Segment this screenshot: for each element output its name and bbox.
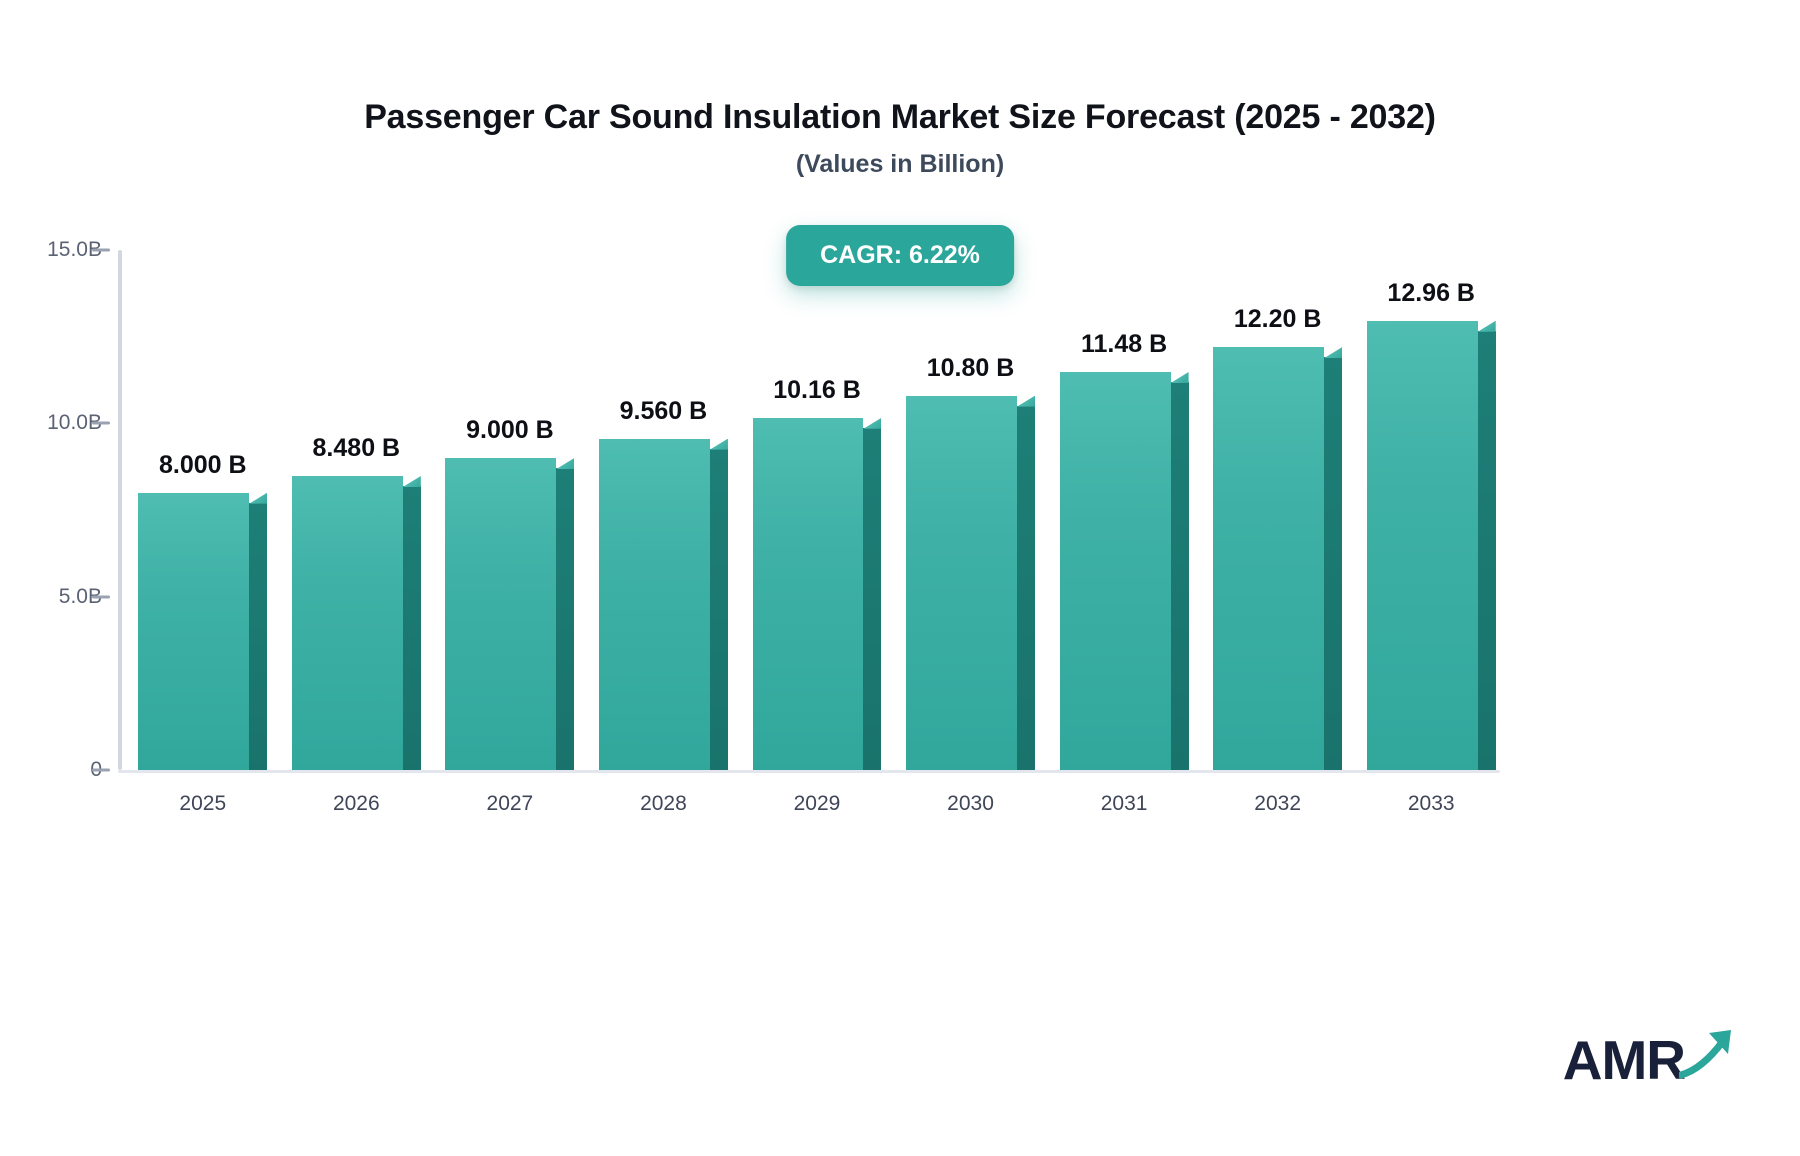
bar-side-face xyxy=(1017,406,1035,770)
bar-side-face xyxy=(556,468,574,770)
bar-group: 9.560 B2028 xyxy=(599,250,728,770)
bar-group: 8.480 B2026 xyxy=(292,250,421,770)
chart-container: Passenger Car Sound Insulation Market Si… xyxy=(0,0,1800,1156)
bar-value-label: 12.96 B xyxy=(1387,279,1475,308)
bar[interactable]: 11.48 B xyxy=(1060,372,1189,770)
bar-side-face xyxy=(249,503,267,770)
bar-front-face xyxy=(906,396,1017,770)
bar[interactable]: 9.000 B xyxy=(445,458,574,770)
bar-top-face xyxy=(556,458,574,469)
bar-side-face xyxy=(1324,357,1342,770)
bar-value-label: 9.560 B xyxy=(620,397,708,426)
bar[interactable]: 9.560 B xyxy=(599,439,728,770)
y-axis-tick-mark xyxy=(92,249,110,252)
bar-value-label: 10.80 B xyxy=(927,354,1015,383)
bar-group: 10.80 B2030 xyxy=(906,250,1035,770)
bar-front-face xyxy=(1213,347,1324,770)
bar-group: 8.000 B2025 xyxy=(138,250,267,770)
y-axis-tick-mark xyxy=(92,595,110,598)
bar-value-label: 9.000 B xyxy=(466,416,554,445)
growth-arrow-icon xyxy=(1679,1027,1745,1084)
bar-front-face xyxy=(599,439,710,770)
bar-series: 8.000 B20258.480 B20269.000 B20279.560 B… xyxy=(118,250,1500,770)
x-axis-label: 2030 xyxy=(906,792,1035,816)
bar-front-face xyxy=(138,493,249,770)
bar[interactable]: 10.80 B xyxy=(906,396,1035,770)
bar-value-label: 10.16 B xyxy=(773,376,861,405)
bar-group: 11.48 B2031 xyxy=(1060,250,1189,770)
x-axis-label: 2032 xyxy=(1213,792,1342,816)
bar[interactable]: 10.16 B xyxy=(753,418,882,770)
bar-group: 9.000 B2027 xyxy=(445,250,574,770)
bar-top-face xyxy=(710,439,728,450)
bar-front-face xyxy=(1367,321,1478,770)
bar-front-face xyxy=(292,476,403,770)
bar-side-face xyxy=(863,428,881,770)
bar-value-label: 11.48 B xyxy=(1081,330,1167,359)
bar-top-face xyxy=(1017,396,1035,407)
bar-top-face xyxy=(249,493,267,504)
chart-subtitle: (Values in Billion) xyxy=(0,150,1800,179)
bar-value-label: 12.20 B xyxy=(1234,305,1322,334)
x-axis-label: 2025 xyxy=(138,792,267,816)
bar-value-label: 8.480 B xyxy=(313,434,401,463)
bar-side-face xyxy=(403,486,421,770)
chart-title: Passenger Car Sound Insulation Market Si… xyxy=(0,98,1800,137)
bar[interactable]: 12.20 B xyxy=(1213,347,1342,770)
bar[interactable]: 8.480 B xyxy=(292,476,421,770)
bar-side-face xyxy=(1171,382,1189,770)
bar-group: 12.96 B2033 xyxy=(1367,250,1496,770)
x-axis-label: 2028 xyxy=(599,792,728,816)
x-axis-label: 2026 xyxy=(292,792,421,816)
plot-area: 05.0B10.0B15.0B 8.000 B20258.480 B20269.… xyxy=(118,250,1500,770)
y-axis-tick-mark xyxy=(92,422,110,425)
x-axis-label: 2033 xyxy=(1367,792,1496,816)
bar-side-face xyxy=(710,449,728,770)
bar[interactable]: 12.96 B xyxy=(1367,321,1496,770)
x-axis-label: 2031 xyxy=(1060,792,1189,816)
bar-value-label: 8.000 B xyxy=(159,451,247,480)
bar-group: 12.20 B2032 xyxy=(1213,250,1342,770)
amr-logo: AMR xyxy=(1563,1027,1745,1088)
x-axis-label: 2029 xyxy=(753,792,882,816)
y-axis-tick-mark xyxy=(92,769,110,772)
x-axis-line xyxy=(118,770,1500,773)
x-axis-label: 2027 xyxy=(445,792,574,816)
logo-text: AMR xyxy=(1563,1033,1685,1088)
bar-side-face xyxy=(1478,331,1496,770)
bar-front-face xyxy=(753,418,864,770)
bar-top-face xyxy=(403,476,421,487)
bar-front-face xyxy=(1060,372,1171,770)
bar-group: 10.16 B2029 xyxy=(753,250,882,770)
bar-front-face xyxy=(445,458,556,770)
bar-top-face xyxy=(863,418,881,429)
bar[interactable]: 8.000 B xyxy=(138,493,267,770)
